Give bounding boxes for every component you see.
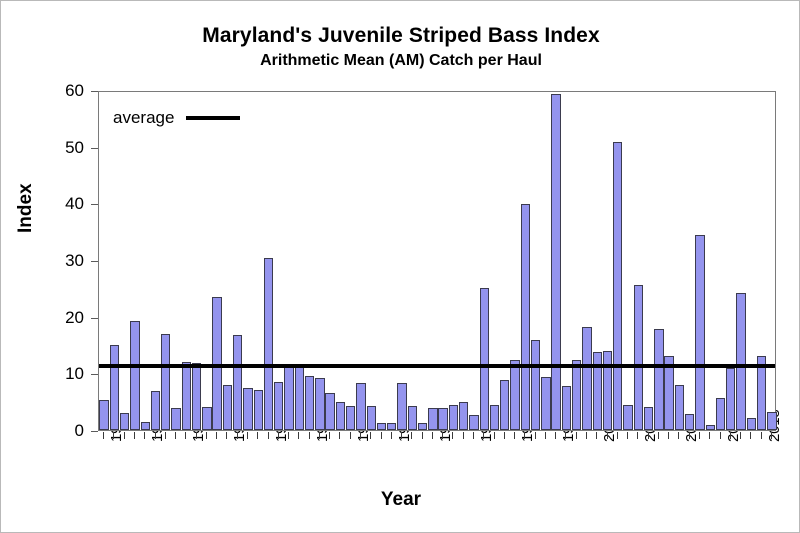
x-axis-tick-mark <box>576 432 577 439</box>
x-axis-tick-mark <box>103 432 104 439</box>
bar <box>654 329 663 430</box>
bar <box>500 380 509 430</box>
x-axis-tick-mark <box>750 432 751 439</box>
title-block: Maryland's Juvenile Striped Bass Index A… <box>1 23 800 72</box>
x-axis-tick-mark <box>678 432 679 439</box>
y-axis-tick-label: 30 <box>65 250 84 271</box>
chart-legend: average <box>113 108 240 128</box>
bar <box>603 351 612 430</box>
bar <box>736 293 745 430</box>
x-axis-tick-mark <box>329 432 330 439</box>
x-axis-tick-mark <box>401 432 402 439</box>
x-axis-tick-mark <box>257 432 258 439</box>
x-axis-tick-mark <box>545 432 546 439</box>
x-axis-tick-mark <box>278 432 279 439</box>
y-axis-tick-label: 40 <box>65 193 84 214</box>
x-axis-tick-mark <box>761 432 762 439</box>
bar <box>469 415 478 430</box>
y-axis-tick-mark <box>91 91 98 92</box>
x-axis-tick-mark <box>124 432 125 439</box>
x-axis-tick-mark <box>586 432 587 439</box>
chart-subtitle: Arithmetic Mean (AM) Catch per Haul <box>1 50 800 72</box>
bar <box>130 321 139 430</box>
x-axis-tick-mark <box>391 432 392 439</box>
x-axis-label: Year <box>1 489 800 511</box>
x-axis-tick-mark <box>360 432 361 439</box>
y-axis-tick-mark <box>91 318 98 319</box>
x-axis-tick-mark <box>370 432 371 439</box>
y-axis-tick-label: 10 <box>65 363 84 384</box>
x-axis-tick-mark <box>144 432 145 439</box>
bar <box>613 142 622 430</box>
bar <box>397 383 406 430</box>
x-axis-tick-mark <box>175 432 176 439</box>
x-axis-tick-mark <box>113 432 114 439</box>
bar <box>315 378 324 430</box>
bar <box>367 406 376 430</box>
x-axis-tick-mark <box>720 432 721 439</box>
bar <box>356 383 365 430</box>
y-axis-tick-label: 20 <box>65 307 84 328</box>
x-axis-tick-mark <box>473 432 474 439</box>
bar <box>141 422 150 430</box>
bar <box>541 377 550 430</box>
bar <box>449 405 458 430</box>
bar <box>408 406 417 430</box>
bar <box>254 390 263 430</box>
x-axis-tick-mark <box>689 432 690 439</box>
bar <box>284 367 293 430</box>
bar <box>223 385 232 430</box>
bar <box>305 376 314 430</box>
bar <box>551 94 560 430</box>
bar <box>706 425 715 430</box>
x-axis-tick-mark <box>699 432 700 439</box>
bar <box>274 382 283 430</box>
bar <box>161 334 170 430</box>
x-axis-tick-mark <box>381 432 382 439</box>
legend-swatch-average-line <box>186 116 240 120</box>
bar <box>182 362 191 430</box>
bar <box>428 408 437 430</box>
average-line <box>99 364 775 368</box>
x-axis-tick-mark <box>155 432 156 439</box>
bar <box>202 407 211 430</box>
bar <box>634 285 643 430</box>
bar <box>521 204 530 430</box>
bar <box>120 413 129 430</box>
x-axis-tick-mark <box>627 432 628 439</box>
x-axis-tick-mark <box>206 432 207 439</box>
y-axis-tick-label: 0 <box>75 420 84 441</box>
y-axis-tick-mark <box>91 261 98 262</box>
bar <box>623 405 632 431</box>
bar <box>418 423 427 430</box>
y-axis-tick-mark <box>91 431 98 432</box>
x-axis-tick-mark <box>134 432 135 439</box>
x-axis-tick-mark <box>514 432 515 439</box>
bar <box>510 360 519 430</box>
y-axis-tick-label: 50 <box>65 137 84 158</box>
x-axis-tick-mark <box>298 432 299 439</box>
bar <box>531 340 540 430</box>
bar <box>490 405 499 430</box>
x-axis-tick-mark <box>422 432 423 439</box>
x-axis-tick-mark <box>185 432 186 439</box>
x-axis-tick-mark <box>535 432 536 439</box>
chart-figure: Maryland's Juvenile Striped Bass Index A… <box>0 0 800 533</box>
bar <box>459 402 468 430</box>
x-axis-tick-mark <box>237 432 238 439</box>
x-axis-tick-mark <box>452 432 453 439</box>
y-axis-tick-mark <box>91 148 98 149</box>
x-axis-tick-mark <box>668 432 669 439</box>
bar <box>438 408 447 430</box>
x-axis-tick-mark <box>432 432 433 439</box>
bar <box>747 418 756 430</box>
bar <box>685 414 694 430</box>
x-axis-tick-mark <box>196 432 197 439</box>
bar <box>264 258 273 430</box>
x-axis-tick-mark <box>565 432 566 439</box>
y-axis-label: Index <box>15 183 37 233</box>
bar <box>767 412 776 430</box>
plot-inner: average <box>99 92 775 430</box>
bar <box>295 367 304 430</box>
chart-title: Maryland's Juvenile Striped Bass Index <box>1 23 800 49</box>
x-axis-tick-mark <box>596 432 597 439</box>
x-axis-tick-mark <box>658 432 659 439</box>
x-axis-tick-mark <box>607 432 608 439</box>
bar <box>325 393 334 430</box>
x-axis-tick-mark <box>555 432 556 439</box>
x-axis-tick-mark <box>247 432 248 439</box>
bar <box>695 235 704 430</box>
bar <box>675 385 684 430</box>
x-axis-tick-mark <box>483 432 484 439</box>
bar <box>99 400 108 430</box>
x-axis-tick-mark <box>463 432 464 439</box>
bar <box>572 360 581 430</box>
x-axis-tick-mark <box>268 432 269 439</box>
x-axis-tick-mark <box>617 432 618 439</box>
x-axis-tick-mark <box>494 432 495 439</box>
x-axis-tick-mark <box>411 432 412 439</box>
x-axis-tick-mark <box>165 432 166 439</box>
x-axis-tick-mark <box>637 432 638 439</box>
bar <box>480 288 489 430</box>
x-axis-tick-mark <box>504 432 505 439</box>
y-axis-tick-label: 60 <box>65 80 84 101</box>
x-axis-tick-mark <box>730 432 731 439</box>
x-axis-tick-mark <box>648 432 649 439</box>
x-axis-tick-mark <box>288 432 289 439</box>
bar <box>336 402 345 430</box>
x-axis-tick-mark <box>524 432 525 439</box>
x-axis-tick-mark <box>216 432 217 439</box>
bar <box>243 388 252 430</box>
legend-label-average: average <box>113 108 174 128</box>
bar <box>377 423 386 430</box>
bar <box>110 345 119 430</box>
plot-area: average <box>98 91 776 431</box>
x-axis-tick-mark <box>309 432 310 439</box>
bar <box>562 386 571 430</box>
bar <box>387 423 396 430</box>
bar <box>171 408 180 430</box>
x-axis-tick-mark <box>226 432 227 439</box>
x-axis-tick-mark <box>319 432 320 439</box>
x-axis-tick-mark <box>350 432 351 439</box>
bar <box>716 398 725 430</box>
y-axis-tick-mark <box>91 204 98 205</box>
bar <box>644 407 653 430</box>
x-axis-tick-mark <box>740 432 741 439</box>
bar <box>192 363 201 430</box>
bar <box>582 327 591 430</box>
bar <box>346 406 355 430</box>
bar <box>726 368 735 430</box>
x-axis-tick-mark <box>709 432 710 439</box>
x-axis-tick-mark <box>339 432 340 439</box>
x-axis-tick-mark <box>771 432 772 439</box>
bar <box>151 391 160 430</box>
bar <box>233 335 242 430</box>
x-axis-tick-mark <box>442 432 443 439</box>
y-axis-tick-mark <box>91 374 98 375</box>
